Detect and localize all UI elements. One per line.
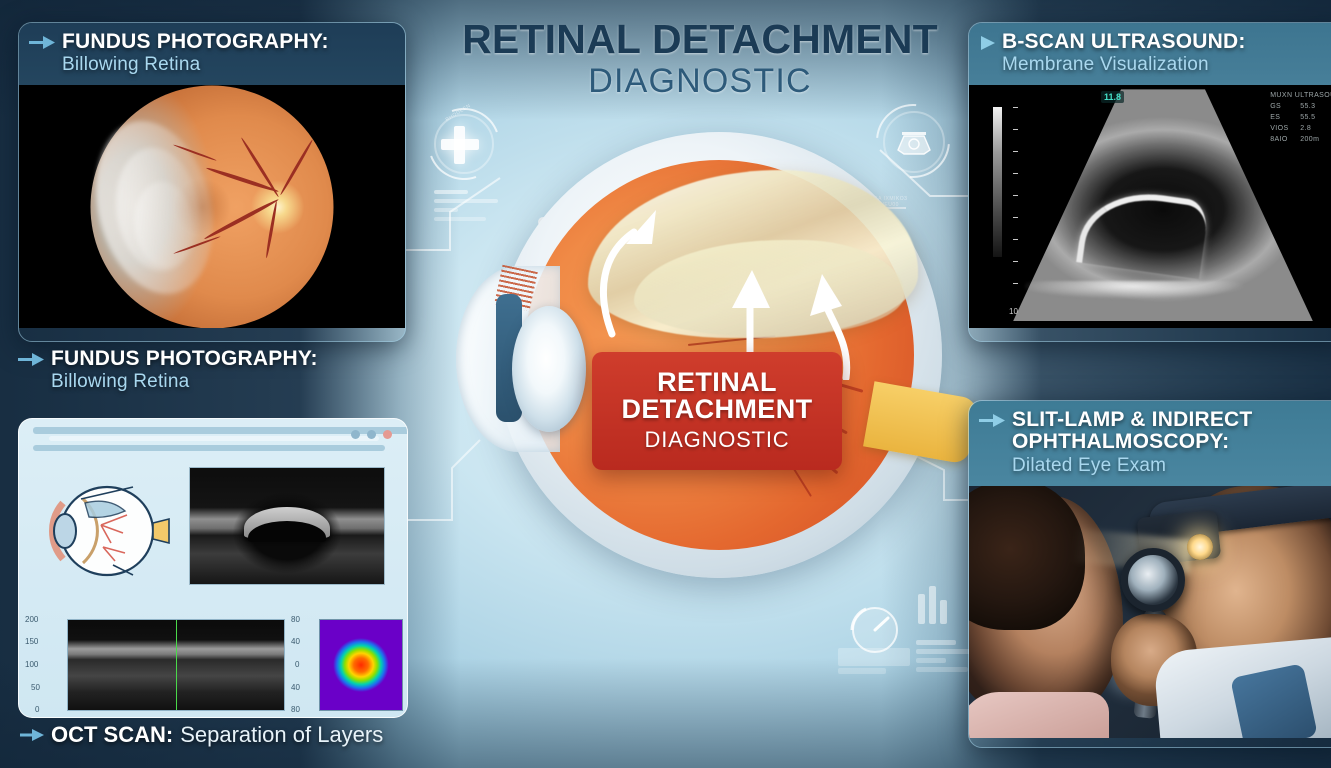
title-main-line: RETINAL DETACHMENT <box>420 18 980 61</box>
ultrasound-posterior-wall <box>1025 281 1295 307</box>
oct-map-tick-0: 80 <box>291 615 300 624</box>
oct-map-tick-3: 40 <box>291 683 300 692</box>
us-meta-key-3: 8AIO <box>1270 135 1300 146</box>
panel-slitlamp-header: SLIT-LAMP & INDIRECT OPHTHALMOSCOPY: Dil… <box>969 401 1331 486</box>
label-fundus-photography-repeat: FUNDUS PHOTOGRAPHY: Billowing Retina <box>18 348 408 393</box>
arrow-right-icon <box>18 353 44 366</box>
oct-map-tick-4: 80 <box>291 705 300 714</box>
page-title: RETINAL DETACHMENT DIAGNOSTIC <box>420 18 980 101</box>
oct-caption-strong: OCT SCAN: <box>51 722 173 748</box>
panel-fundus-title: FUNDUS PHOTOGRAPHY: <box>62 31 393 53</box>
callout-line-3: DIAGNOSTIC <box>645 427 790 453</box>
callout-line-1: RETINAL <box>657 369 777 397</box>
panel-fundus-header: FUNDUS PHOTOGRAPHY: Billowing Retina <box>19 23 405 85</box>
panel-ultrasound-title: B-SCAN ULTRASOUND: <box>1002 31 1331 53</box>
fundus-retina-disc <box>91 85 334 328</box>
oct-thickness-map <box>319 619 403 711</box>
panel-slit-lamp-ophthalmoscopy[interactable]: SLIT-LAMP & INDIRECT OPHTHALMOSCOPY: Dil… <box>968 400 1331 748</box>
infographic-canvas: RETINAL DETACHMENT DIAGNOSTIC RHODEEN AC… <box>0 0 1331 768</box>
oct-crosshair <box>176 620 177 710</box>
oct-ytick-4: 0 <box>35 705 39 714</box>
panel-fundus-photography[interactable]: FUNDUS PHOTOGRAPHY: Billowing Retina <box>18 22 406 342</box>
eye-lens <box>512 306 586 432</box>
us-meta-val-3: 200m <box>1300 136 1319 143</box>
us-meta-val-0: 55.3 <box>1300 103 1315 110</box>
patient-shirt <box>969 692 1109 738</box>
panel-ultrasound-subtitle: Membrane Visualization <box>1002 54 1331 76</box>
oct-caption-normal: Separation of Layers <box>180 722 383 748</box>
window-dot-3 <box>383 430 392 439</box>
oct-ytick-3: 50 <box>31 683 40 692</box>
arrow-right-icon <box>29 36 55 49</box>
arrow-right-icon <box>979 414 1005 427</box>
panel-slitlamp-title-line2: OPHTHALMOSCOPY: <box>1012 431 1331 453</box>
label-fundus-repeat-title: FUNDUS PHOTOGRAPHY: <box>51 348 408 370</box>
panel-slitlamp-title-line1: SLIT-LAMP & INDIRECT <box>1012 409 1331 431</box>
panel-slitlamp-subtitle: Dilated Eye Exam <box>1012 455 1331 477</box>
title-sub-line: DIAGNOSTIC <box>420 63 980 100</box>
condensing-lens <box>1121 548 1185 612</box>
us-meta-key-2: VIOS <box>1270 124 1300 135</box>
headlamp-light <box>1187 534 1213 560</box>
window-dot-2 <box>367 430 376 439</box>
detachment-arrow-1 <box>578 188 718 338</box>
oct-macula-bscan <box>67 619 285 711</box>
ultrasound-depth-marker: 10 <box>1009 307 1018 316</box>
us-meta-key-1: ES <box>1270 113 1300 124</box>
panel-bscan-ultrasound[interactable]: B-SCAN ULTRASOUND: Membrane Visualizatio… <box>968 22 1331 342</box>
us-meta-val-2: 2.8 <box>1300 125 1311 132</box>
us-meta-key-0: GS <box>1270 102 1300 113</box>
panel-fundus-subtitle: Billowing Retina <box>62 54 393 76</box>
label-fundus-repeat-subtitle: Billowing Retina <box>51 371 408 393</box>
slitlamp-photograph <box>969 486 1331 738</box>
eye-schematic-icon <box>41 481 171 581</box>
us-meta-val-1: 55.5 <box>1300 114 1315 121</box>
oct-map-tick-2: 0 <box>295 660 299 669</box>
oct-window-chrome <box>19 419 407 455</box>
ultrasound-image: 10 11.8 MUXN ULTRASOUN GS55.3 ES55.5 VIO… <box>969 85 1331 328</box>
panel-oct-scan[interactable]: 200 150 100 50 0 80 40 0 40 80 <box>18 418 408 718</box>
ultrasound-device-label: MUXN ULTRASOUN <box>1270 91 1331 102</box>
ultrasound-grayscale-bar <box>993 107 1002 257</box>
retinal-detachment-callout: RETINAL DETACHMENT DIAGNOSTIC <box>592 352 842 470</box>
window-dot-1 <box>351 430 360 439</box>
label-oct-scan: OCT SCAN: Separation of Layers <box>20 722 383 748</box>
arrow-right-icon <box>20 729 44 741</box>
patient-hair <box>969 486 1085 630</box>
callout-line-2: DETACHMENT <box>622 396 813 424</box>
oct-map-tick-1: 40 <box>291 637 300 646</box>
panel-ultrasound-header: B-SCAN ULTRASOUND: Membrane Visualizatio… <box>969 23 1331 85</box>
oct-ytick-2: 100 <box>25 660 38 669</box>
oct-ytick-1: 150 <box>25 637 38 646</box>
oct-ytick-0: 200 <box>25 615 38 624</box>
fundus-photograph <box>19 85 405 328</box>
oct-window: 200 150 100 50 0 80 40 0 40 80 <box>18 418 408 718</box>
ultrasound-metadata-overlay: MUXN ULTRASOUN GS55.3 ES55.5 VIOS2.8 8AI… <box>1270 91 1331 145</box>
oct-bscan-detachment-image <box>189 467 385 585</box>
ultrasound-frame-tag: 11.8 <box>1101 91 1124 103</box>
triangle-right-icon <box>979 36 995 50</box>
